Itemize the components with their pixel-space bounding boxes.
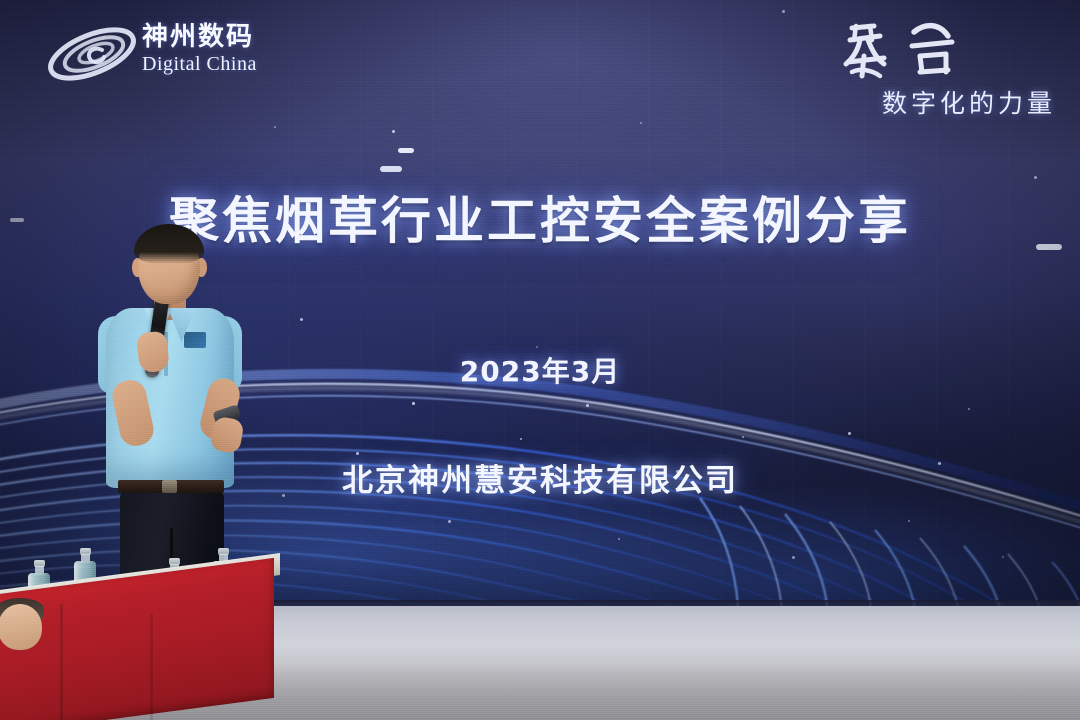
speaker-hand-left [136, 331, 170, 374]
juhe-tagline: 数字化的力量 [796, 84, 1056, 120]
speaker-hand-right [209, 416, 244, 455]
digital-china-en: Digital China [142, 53, 302, 76]
seated-attendee [0, 604, 42, 650]
juhe-logo: 数字化的力量 [796, 14, 1056, 120]
tablecloth-fold [60, 604, 63, 720]
digital-china-logo: 神州数码 Digital China [44, 18, 294, 90]
speaker-hair [134, 224, 204, 264]
digital-china-wordmark: 神州数码 Digital China [142, 24, 302, 76]
digital-china-cn: 神州数码 [142, 24, 302, 51]
tablecloth-fold [150, 614, 153, 720]
conference-photo: 聚焦烟草行业工控安全案例分享 2023年3月 北京神州慧安科技有限公司 神州数码… [0, 0, 1080, 720]
belt-buckle [162, 480, 177, 493]
swirl-galaxy-icon [44, 20, 140, 88]
juhe-calligraphy [840, 14, 990, 86]
chest-logo-emblem [184, 332, 206, 348]
